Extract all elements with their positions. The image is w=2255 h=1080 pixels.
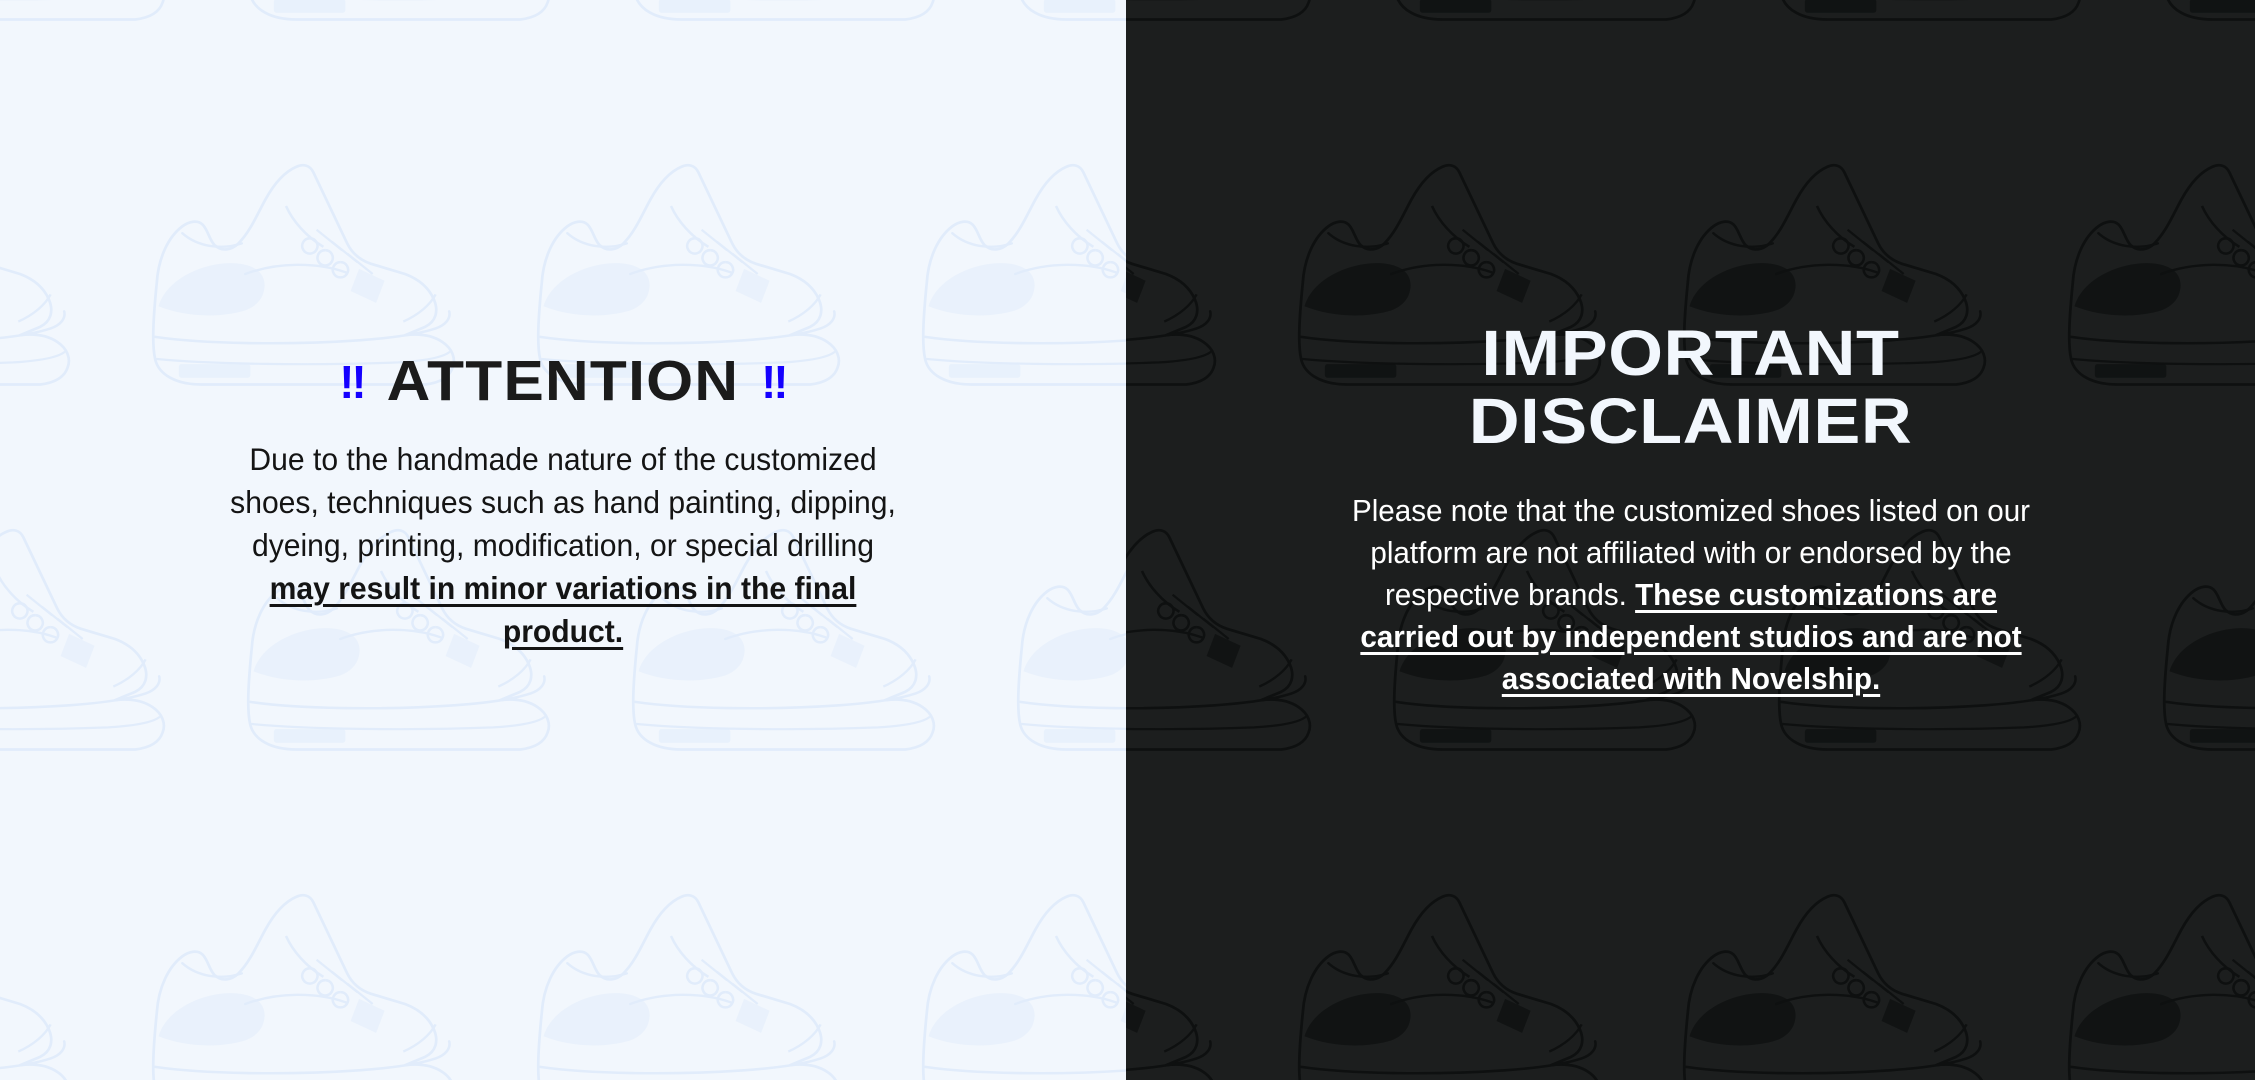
attention-heading-text: ATTENTION [387,349,740,413]
disclaimer-heading-line-1: IMPORTANT [1481,317,1899,389]
disclaimer-heading: IMPORTANT DISCLAIMER [1166,320,2214,456]
disclaimer-body: Please note that the customized shoes li… [1347,490,2035,700]
disclaimer-heading-line-2: DISCLAIMER [1469,385,1913,457]
attention-body-emphasis: may result in minor variations in the fi… [270,570,857,649]
attention-heading: ‼ATTENTION‼ [68,352,1058,410]
attention-panel: ‼ATTENTION‼ Due to the handmade nature o… [0,0,1126,1080]
double-exclamation-icon-left: ‼ [339,359,364,406]
double-exclamation-icon-right: ‼ [762,359,787,406]
disclaimer-panel: IMPORTANT DISCLAIMER Please note that th… [1126,0,2255,1080]
attention-body: Due to the handmade nature of the custom… [229,438,898,653]
disclaimer-content: IMPORTANT DISCLAIMER Please note that th… [1126,320,2255,700]
attention-content: ‼ATTENTION‼ Due to the handmade nature o… [0,352,1126,653]
promo-banner: ‼ATTENTION‼ Due to the handmade nature o… [0,0,2255,1080]
attention-body-lead: Due to the handmade nature of the custom… [230,441,896,563]
